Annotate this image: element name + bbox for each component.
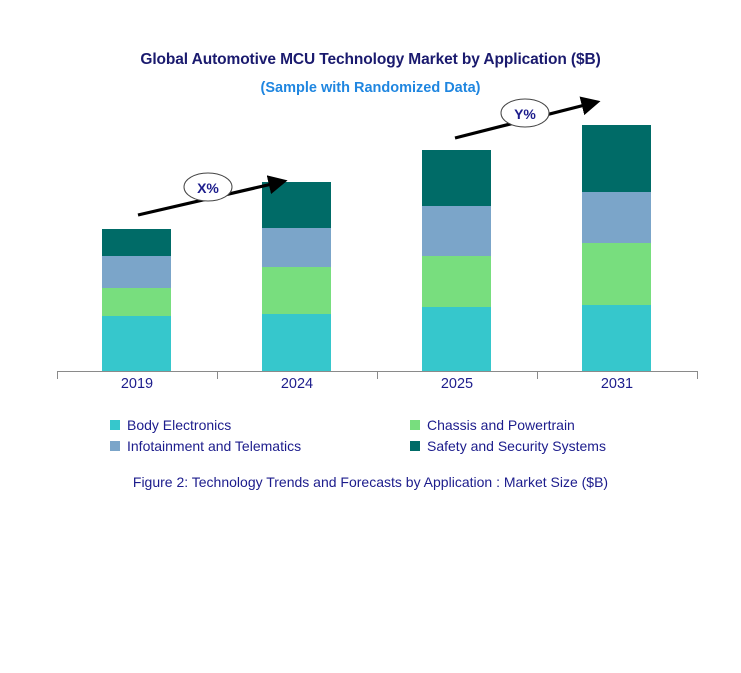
bar-segment	[582, 192, 651, 243]
bar-segment	[262, 314, 331, 372]
legend-label-infotainment-telematics: Infotainment and Telematics	[127, 438, 301, 454]
bar-2031	[582, 125, 651, 372]
bar-segment	[582, 305, 651, 372]
bar-2019	[102, 229, 171, 372]
chart-subtitle: (Sample with Randomized Data)	[0, 78, 741, 98]
bar-segment	[422, 206, 491, 256]
bar-segment	[102, 288, 171, 316]
title-block: Global Automotive MCU Technology Market …	[0, 50, 741, 98]
legend-row-1: Body Electronics Chassis and Powertrain	[110, 414, 670, 435]
bar-segment	[422, 256, 491, 307]
bar-segment	[262, 228, 331, 267]
axis-tick-1	[217, 371, 218, 379]
legend-item-infotainment-telematics: Infotainment and Telematics	[110, 438, 410, 454]
bar-segment	[422, 150, 491, 206]
xlabel-2025: 2025	[397, 376, 517, 392]
chart-title: Global Automotive MCU Technology Market …	[0, 50, 741, 70]
bar-segment	[102, 316, 171, 372]
bar-segment	[262, 267, 331, 314]
legend-item-safety-security: Safety and Security Systems	[410, 438, 670, 454]
legend-swatch-body-electronics	[110, 420, 120, 430]
bar-segment	[102, 229, 171, 256]
legend-label-safety-security: Safety and Security Systems	[427, 438, 606, 454]
legend-swatch-safety-security	[410, 441, 420, 451]
bar-segment	[262, 182, 331, 228]
legend-row-2: Infotainment and Telematics Safety and S…	[110, 435, 670, 456]
xlabel-2019: 2019	[77, 376, 197, 392]
axis-tick-2	[377, 371, 378, 379]
axis-tick-end	[697, 371, 698, 379]
growth-label-x: X%	[186, 180, 230, 196]
growth-label-y: Y%	[503, 106, 547, 122]
bar-2025	[422, 150, 491, 372]
xlabel-2031: 2031	[557, 376, 677, 392]
bar-segment	[422, 307, 491, 372]
xlabel-2024: 2024	[237, 376, 357, 392]
axis-tick-3	[537, 371, 538, 379]
legend-label-chassis-powertrain: Chassis and Powertrain	[427, 417, 575, 433]
legend-item-body-electronics: Body Electronics	[110, 417, 410, 433]
bar-2024	[262, 182, 331, 372]
legend-label-body-electronics: Body Electronics	[127, 417, 231, 433]
legend-swatch-infotainment-telematics	[110, 441, 120, 451]
figure-caption: Figure 2: Technology Trends and Forecast…	[0, 474, 741, 490]
bar-segment	[582, 125, 651, 192]
legend-item-chassis-powertrain: Chassis and Powertrain	[410, 417, 670, 433]
plot-area	[57, 110, 698, 372]
legend-swatch-chassis-powertrain	[410, 420, 420, 430]
axis-tick-start	[57, 371, 58, 379]
bar-segment	[582, 243, 651, 305]
bar-segment	[102, 256, 171, 288]
chart-figure: Global Automotive MCU Technology Market …	[0, 0, 741, 673]
chart-legend: Body Electronics Chassis and Powertrain …	[110, 414, 670, 456]
